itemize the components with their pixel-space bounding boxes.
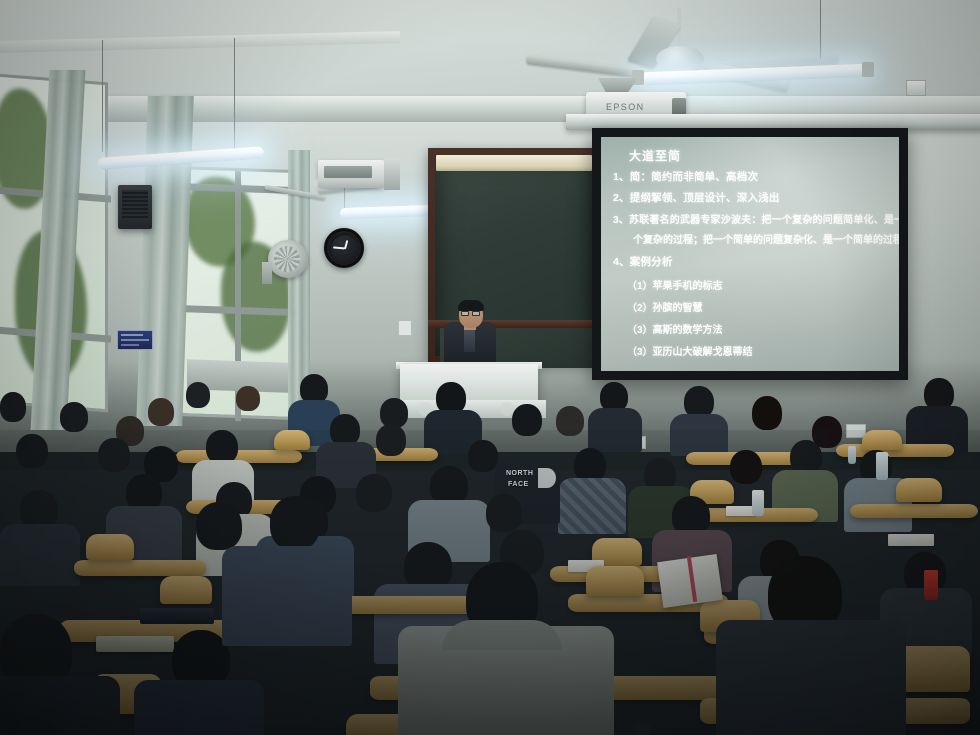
lecturer-glasses-icon bbox=[472, 311, 480, 316]
student-torso-plaid bbox=[558, 478, 626, 534]
slide-line: 2、提纲挈领、顶层设计、深入浅出 bbox=[613, 190, 780, 205]
notebook-foreground[interactable] bbox=[96, 636, 174, 652]
student-head bbox=[148, 398, 174, 426]
student-torso bbox=[588, 408, 642, 452]
student-head bbox=[186, 382, 210, 408]
student-head bbox=[356, 474, 392, 512]
wall-placard bbox=[117, 330, 153, 350]
speaker-grill-icon bbox=[122, 190, 148, 220]
student-head bbox=[236, 386, 260, 411]
student-head bbox=[196, 502, 242, 550]
lecture-hall-photo: EPSON 大道至简 1、简：简约而非简单、高档次 2、提纲挈领、顶层设计、深入… bbox=[0, 0, 980, 735]
student-head bbox=[486, 494, 522, 532]
projection-screen-frame: 大道至简 1、简：简约而非简单、高档次 2、提纲挈领、顶层设计、深入浅出 3、苏… bbox=[592, 128, 908, 380]
student-torso-foreground bbox=[716, 620, 906, 735]
stacked-books[interactable] bbox=[140, 608, 214, 624]
student-head bbox=[206, 430, 238, 464]
lecturer-glasses-icon bbox=[461, 311, 469, 316]
light-hanger-wire bbox=[102, 40, 103, 152]
ceiling-fan-main bbox=[520, 8, 840, 100]
hoodie-hood bbox=[442, 620, 562, 650]
wall-clock bbox=[324, 228, 364, 268]
desk bbox=[330, 596, 482, 614]
chair[interactable] bbox=[862, 430, 902, 450]
north-face-logo-line2: FACE bbox=[508, 481, 529, 489]
fan-hub bbox=[656, 46, 704, 72]
clock-face bbox=[331, 235, 359, 263]
slide-line-continued: 个复杂的过程；把一个简单的问题复杂化、是一个简单的过程 bbox=[633, 231, 899, 246]
cola-bottle[interactable] bbox=[924, 570, 938, 600]
student-head bbox=[730, 450, 762, 484]
placard-line bbox=[121, 339, 149, 341]
student-head bbox=[98, 438, 130, 472]
rolled-screen-valance bbox=[436, 155, 592, 171]
lecturer-shirt bbox=[464, 330, 475, 352]
slide-title: 大道至简 bbox=[629, 147, 681, 164]
wall-fan bbox=[268, 240, 308, 278]
student-torso-foreground bbox=[134, 680, 264, 735]
tube-end-cap bbox=[862, 62, 874, 77]
ac-side-panel bbox=[384, 158, 400, 190]
student-torso-denim-foreground bbox=[222, 546, 352, 646]
slide-line: 1、简：简约而非简单、高档次 bbox=[613, 169, 758, 184]
wall-fan-blades-icon bbox=[274, 246, 300, 272]
student-torso bbox=[0, 524, 80, 586]
light-hanger-wire bbox=[234, 38, 235, 160]
student-torso-foreground bbox=[0, 676, 120, 735]
student-head-foreground bbox=[270, 496, 320, 550]
projector-brand-label: EPSON bbox=[606, 102, 645, 112]
water-bottle[interactable] bbox=[848, 446, 856, 464]
light-switch-icon[interactable] bbox=[398, 320, 412, 336]
thermos-white[interactable] bbox=[752, 490, 764, 516]
student-torso bbox=[670, 414, 728, 456]
chair[interactable] bbox=[896, 478, 942, 502]
clock-minute-hand bbox=[333, 247, 345, 250]
north-face-dome-icon bbox=[538, 468, 556, 488]
projection-screen: 大道至简 1、简：简约而非简单、高档次 2、提纲挈领、顶层设计、深入浅出 3、苏… bbox=[601, 137, 899, 371]
student-head bbox=[376, 424, 406, 456]
water-bottle[interactable] bbox=[876, 452, 888, 480]
light-hanger-wire bbox=[820, 0, 821, 58]
student-head bbox=[16, 434, 48, 468]
student-head bbox=[790, 440, 822, 474]
wall-fan-bracket bbox=[262, 262, 272, 284]
desk bbox=[74, 560, 206, 576]
student-head bbox=[0, 392, 26, 422]
lecturer-hair bbox=[458, 300, 484, 311]
student-head bbox=[752, 396, 782, 430]
chair[interactable] bbox=[586, 566, 644, 596]
placard-line bbox=[121, 344, 139, 346]
slide-sub-item: （2）孙膑的智慧 bbox=[627, 299, 703, 314]
phone-icon[interactable] bbox=[634, 724, 650, 735]
student-head bbox=[556, 406, 584, 436]
desk bbox=[850, 504, 978, 518]
north-face-logo-line1: NORTH bbox=[506, 470, 533, 478]
slide-sub-item: （3）亚历山大破解戈恩蒂结 bbox=[627, 343, 753, 358]
slide-sub-item: （1）苹果手机的标志 bbox=[627, 277, 723, 292]
wall-speaker bbox=[118, 185, 152, 229]
placard-line bbox=[121, 334, 143, 336]
chair[interactable] bbox=[274, 430, 310, 450]
wall-outlet-icon[interactable] bbox=[906, 80, 926, 96]
ac-vent bbox=[324, 166, 372, 178]
student-head bbox=[60, 402, 88, 432]
student-head bbox=[512, 404, 542, 436]
student-head bbox=[574, 448, 606, 482]
student-head bbox=[468, 440, 498, 472]
notebook[interactable] bbox=[888, 534, 934, 546]
slide-line: 4、案例分析 bbox=[613, 254, 673, 269]
slide-sub-item: （3）高斯的数学方法 bbox=[627, 321, 723, 336]
slide-line: 3、苏联著名的武器专家沙波夫：把一个复杂的问题简单化、是一 bbox=[613, 211, 899, 226]
chair[interactable] bbox=[86, 534, 134, 560]
chair[interactable] bbox=[160, 576, 212, 604]
